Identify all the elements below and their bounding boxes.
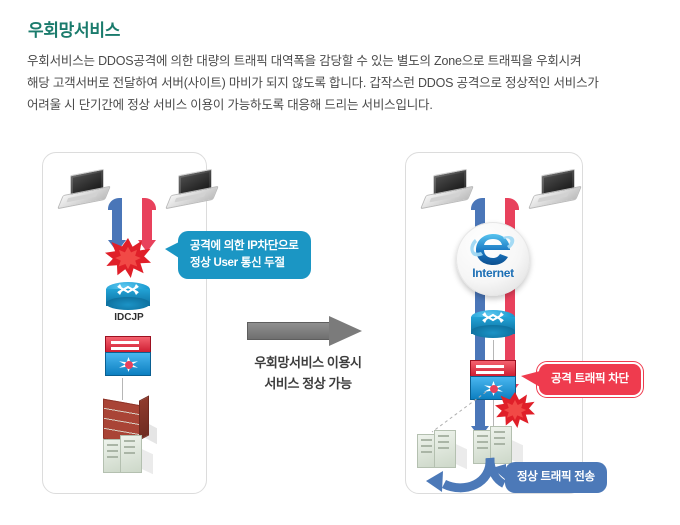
description-line-1: 우회서비스는 DDOS공격에 의한 대량의 트래픽 대역폭을 감당할 수 있는 … bbox=[27, 50, 647, 72]
page-title: 우회망서비스 bbox=[28, 16, 120, 41]
callout-attack-block-before: 공격에 의한 IP차단으로 정상 User 통신 두절 bbox=[178, 231, 311, 279]
router-icon-idcjp bbox=[106, 282, 150, 312]
laptop-icon-right-after bbox=[531, 172, 583, 206]
callout-line-2: 정상 User 통신 두절 bbox=[190, 255, 299, 272]
link-switch-firewall bbox=[122, 378, 123, 400]
server-icon-before bbox=[103, 433, 149, 481]
switch-icon-before bbox=[105, 336, 151, 378]
link-router-switch-after bbox=[493, 340, 494, 362]
description-line-3: 어려울 시 단기간에 정상 서비스 이용이 가능하도록 대응해 드리는 서비스입… bbox=[27, 94, 647, 116]
page-description: 우회서비스는 DDOS공격에 의한 대량의 트래픽 대역폭을 감당할 수 있는 … bbox=[27, 50, 647, 116]
laptop-icon-left-after bbox=[423, 172, 475, 206]
description-line-2: 해당 고객서버로 전달하여 서버(사이트) 마비가 되지 않도록 합니다. 갑작… bbox=[27, 72, 647, 94]
callout-normal-line-1: 정상 트래픽 전송 bbox=[517, 469, 595, 486]
page-root: 우회망서비스 우회서비스는 DDOS공격에 의한 대량의 트래픽 대역폭을 감당… bbox=[0, 0, 680, 525]
center-caption-line-1: 우회망서비스 이용시 bbox=[238, 352, 378, 373]
laptop-icon-left-before bbox=[60, 172, 112, 206]
router-label-idcjp: IDCJP bbox=[108, 312, 150, 323]
callout-normal-traffic-after: 정상 트래픽 전송 bbox=[505, 462, 607, 493]
callout-line-1: 공격에 의한 IP차단으로 bbox=[190, 238, 299, 255]
ie-logo-icon bbox=[469, 230, 517, 270]
internet-cloud-icon: Internet bbox=[456, 222, 530, 296]
internet-label: Internet bbox=[456, 266, 530, 280]
callout-attack-blocked-after: 공격 트래픽 차단 bbox=[537, 362, 643, 397]
center-caption-line-2: 서비스 정상 가능 bbox=[238, 373, 378, 394]
callout-attack-line-1: 공격 트래픽 차단 bbox=[551, 371, 629, 388]
router-icon-after bbox=[471, 310, 515, 340]
laptop-icon-right-before bbox=[168, 172, 220, 206]
transition-arrow-icon bbox=[247, 316, 365, 346]
center-caption: 우회망서비스 이용시 서비스 정상 가능 bbox=[238, 352, 378, 394]
